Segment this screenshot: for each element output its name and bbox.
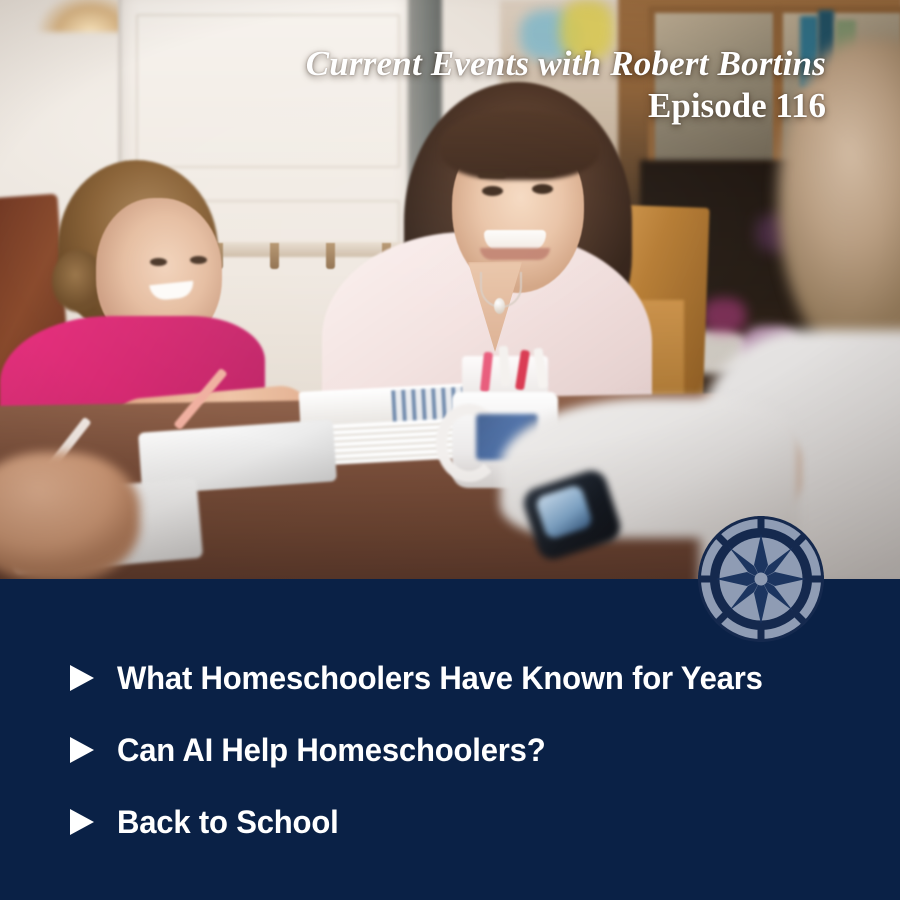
title-block: Current Events with Robert Bortins Episo… <box>0 44 826 126</box>
woman-eyebrow <box>528 170 556 176</box>
topic-label: Can AI Help Homeschoolers? <box>117 732 546 769</box>
hutch-item <box>702 298 746 334</box>
podcast-episode-poster: Current Events with Robert Bortins Episo… <box>0 0 900 900</box>
show-title: Current Events with Robert Bortins <box>0 44 826 85</box>
coat-hook-icon <box>326 243 335 269</box>
woman-eye <box>532 184 553 194</box>
topic-label: What Homeschoolers Have Known for Years <box>117 660 763 697</box>
play-triangle-icon <box>70 663 95 693</box>
play-triangle-icon <box>70 735 95 765</box>
episode-number: Episode 116 <box>0 86 826 127</box>
coat-hook-icon <box>270 243 279 269</box>
girl-eye <box>150 258 167 266</box>
woman-eyebrow <box>478 172 506 178</box>
foreground-child-arm <box>0 452 140 579</box>
topic-item-2[interactable]: Can AI Help Homeschoolers? <box>0 714 900 786</box>
topic-list: What Homeschoolers Have Known for Years … <box>0 579 900 858</box>
woman-lower-lip <box>480 248 550 260</box>
play-triangle-icon <box>70 807 95 837</box>
woman-eye <box>482 186 503 196</box>
woman-pendant <box>494 298 505 314</box>
girl-eye <box>190 256 207 264</box>
topic-label: Back to School <box>117 804 339 841</box>
topic-item-1[interactable]: What Homeschoolers Have Known for Years <box>0 642 900 714</box>
topic-item-3[interactable]: Back to School <box>0 786 900 858</box>
